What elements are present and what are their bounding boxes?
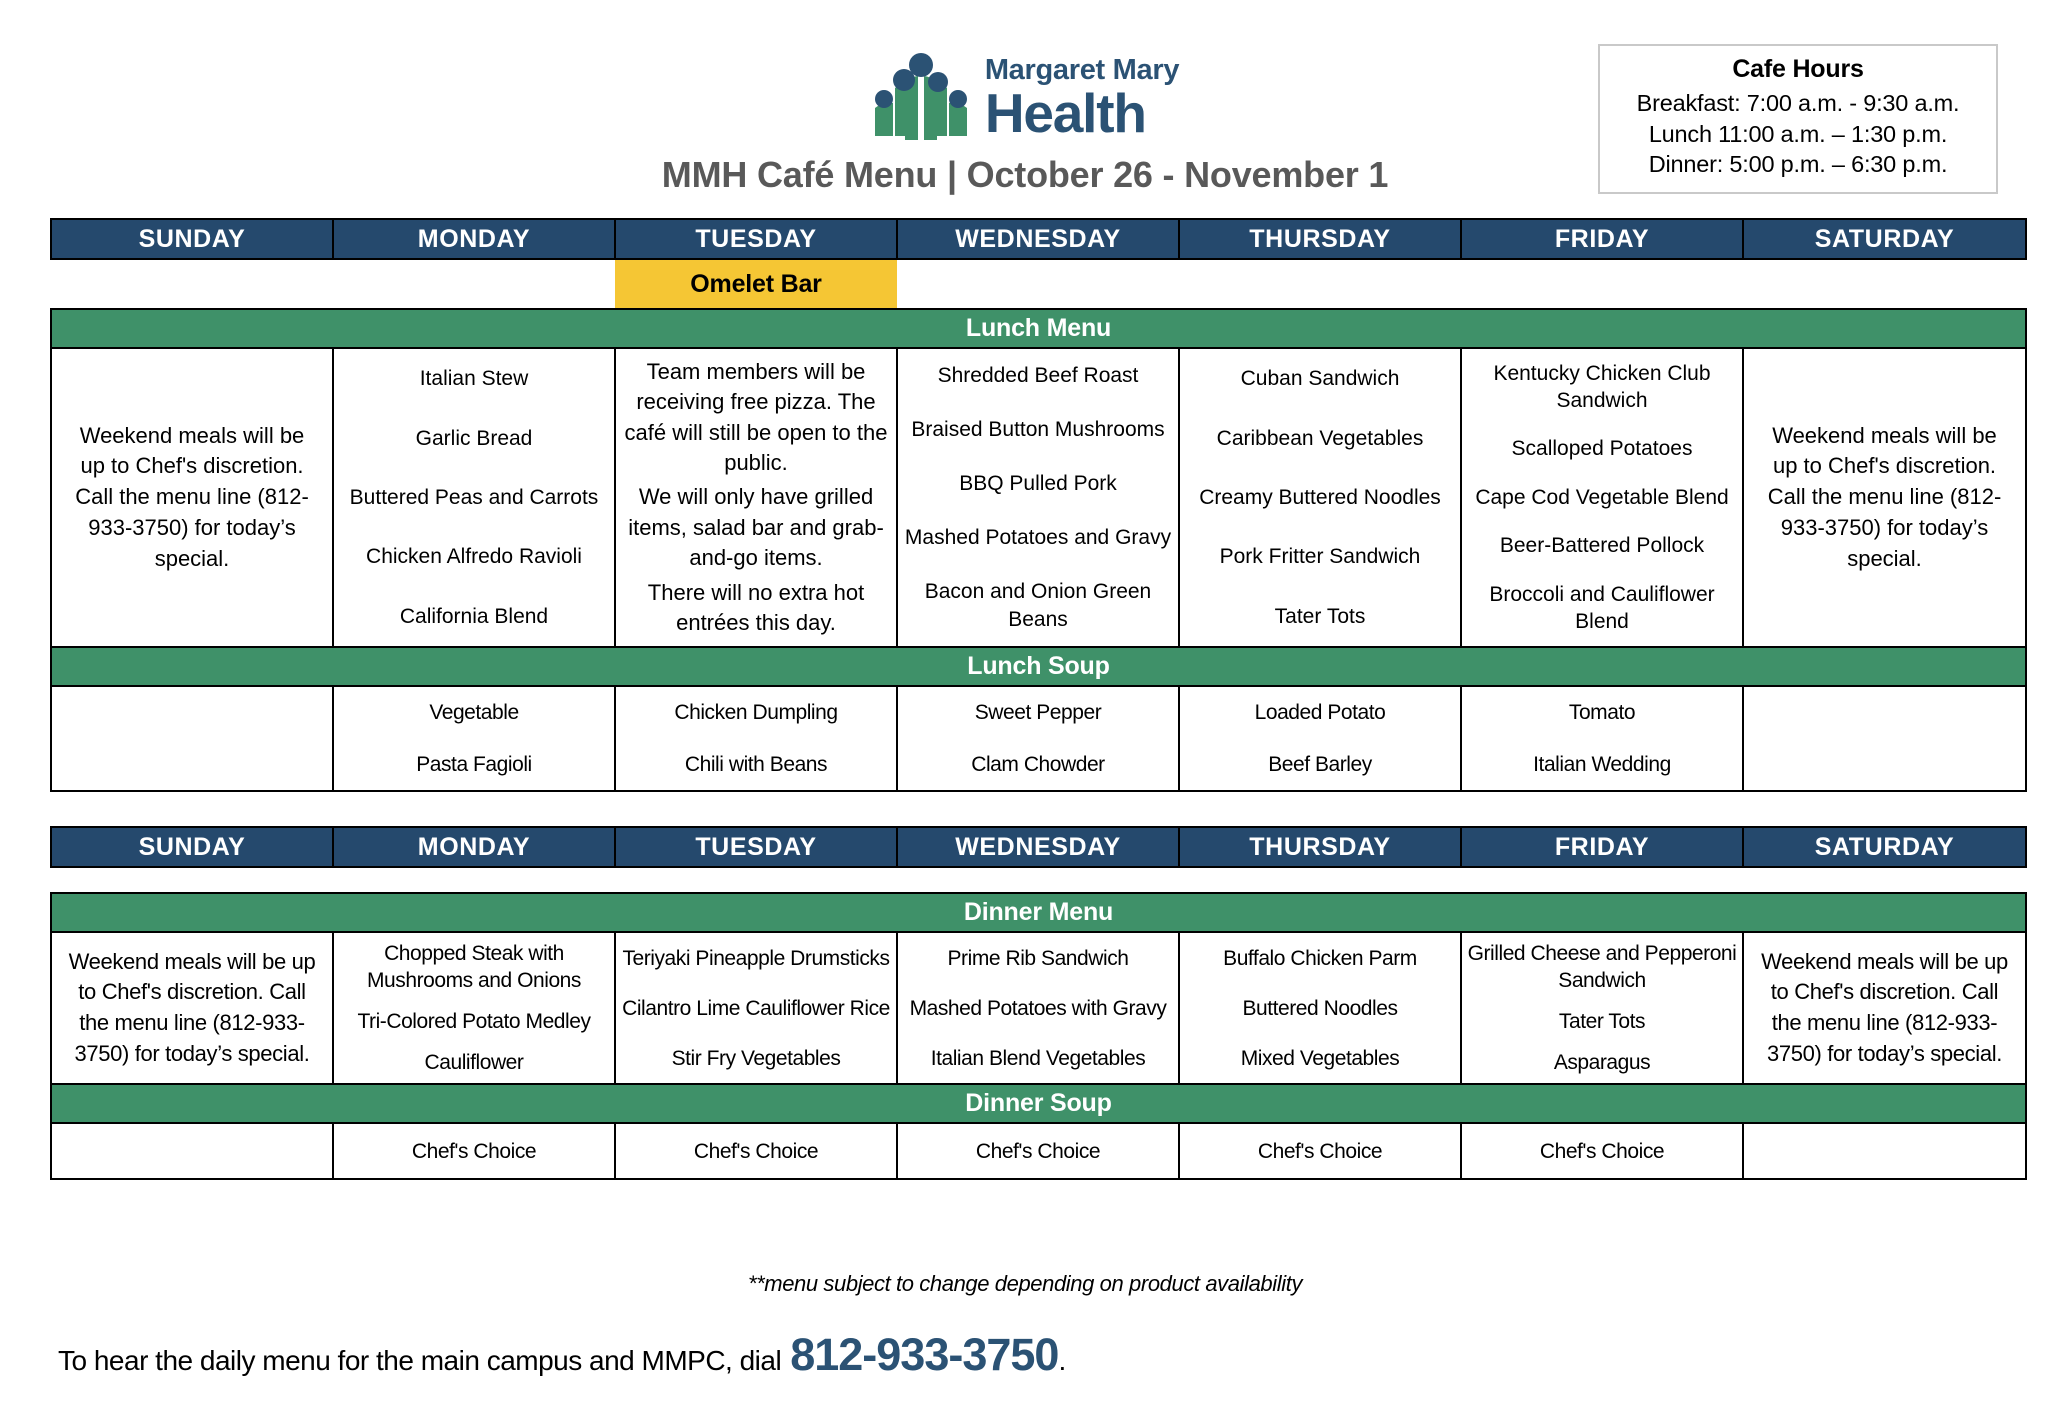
menu-item: Cauliflower xyxy=(334,1047,614,1078)
menu-item: Teriyaki Pineapple Drumsticks xyxy=(616,943,896,974)
menu-item: California Blend xyxy=(334,601,614,632)
menu-item: Creamy Buttered Noodles xyxy=(1180,482,1460,513)
soup-item: Loaded Potato xyxy=(1180,697,1460,728)
menu-item: Beer-Battered Pollock xyxy=(1462,530,1742,561)
cell-dinner-saturday: Weekend meals will be up to Chef's discr… xyxy=(1743,932,2026,1084)
menu-item: Grilled Cheese and Pepperoni Sandwich xyxy=(1462,938,1742,997)
menu-item: Cilantro Lime Cauliflower Rice xyxy=(616,993,896,1024)
menu-item: Buffalo Chicken Parm xyxy=(1180,943,1460,974)
day-header-row-top: SUNDAY MONDAY TUESDAY WEDNESDAY THURSDAY… xyxy=(51,219,2026,259)
cafe-hours-breakfast: Breakfast: 7:00 a.m. - 9:30 a.m. xyxy=(1608,88,1988,119)
day-header-row-bottom: SUNDAY MONDAY TUESDAY WEDNESDAY THURSDAY… xyxy=(51,827,2026,867)
menu-item: Kentucky Chicken Club Sandwich xyxy=(1462,358,1742,417)
menu-item: Pork Fritter Sandwich xyxy=(1180,541,1460,572)
menu-item: Shredded Beef Roast xyxy=(898,360,1178,391)
omelet-spacer-friday xyxy=(1461,259,1743,309)
cell-lunch-soup-friday: Tomato Italian Wedding xyxy=(1461,686,1743,791)
dinner-soup-band-row: Dinner Soup xyxy=(51,1084,2026,1123)
cell-dinner-monday: Chopped Steak with Mushrooms and Onions … xyxy=(333,932,615,1084)
dinner-soup-row: Chef's Choice Chef's Choice Chef's Choic… xyxy=(51,1123,2026,1179)
soup-item: Chili with Beans xyxy=(616,749,896,780)
menu-item: Broccoli and Cauliflower Blend xyxy=(1462,579,1742,638)
menu-item: Braised Button Mushrooms xyxy=(898,414,1178,445)
cell-dinner-tuesday: Teriyaki Pineapple Drumsticks Cilantro L… xyxy=(615,932,897,1084)
menu-item: Garlic Bread xyxy=(334,423,614,454)
menu-item: Cuban Sandwich xyxy=(1180,363,1460,394)
menu-table-body: SUNDAY MONDAY TUESDAY WEDNESDAY THURSDAY… xyxy=(51,219,2026,1179)
page-header: Margaret Mary Health MMH Café Menu | Oct… xyxy=(0,0,2050,218)
day-header-friday-2: FRIDAY xyxy=(1461,827,1743,867)
cafe-hours-dinner: Dinner: 5:00 p.m. – 6:30 p.m. xyxy=(1608,149,1988,180)
menu-item: Scalloped Potatoes xyxy=(1462,433,1742,464)
logo-line-2: Health xyxy=(985,87,1179,139)
cell-dinner-wednesday: Prime Rib Sandwich Mashed Potatoes with … xyxy=(897,932,1179,1084)
day-header-sunday-2: SUNDAY xyxy=(51,827,333,867)
soup-item: Vegetable xyxy=(334,697,614,728)
menu-note-paragraph: There will no extra hot entrées this day… xyxy=(624,576,888,641)
menu-item: Buttered Noodles xyxy=(1180,993,1460,1024)
day-header-tuesday-2: TUESDAY xyxy=(615,827,897,867)
dinner-soup-band: Dinner Soup xyxy=(51,1084,2026,1123)
cell-lunch-wednesday: Shredded Beef Roast Braised Button Mushr… xyxy=(897,348,1179,647)
soup-item: Tomato xyxy=(1462,697,1742,728)
logo: Margaret Mary Health xyxy=(871,48,1179,148)
menu-sheet: SUNDAY MONDAY TUESDAY WEDNESDAY THURSDAY… xyxy=(50,218,2025,1180)
menu-item: Mashed Potatoes with Gravy xyxy=(898,993,1178,1024)
day-header-monday: MONDAY xyxy=(333,219,615,259)
dial-lead-text: To hear the daily menu for the main camp… xyxy=(58,1345,781,1377)
day-header-saturday: SATURDAY xyxy=(1743,219,2026,259)
dinner-menu-row: Weekend meals will be up to Chef's discr… xyxy=(51,932,2026,1084)
day-header-thursday-2: THURSDAY xyxy=(1179,827,1461,867)
cell-lunch-monday: Italian Stew Garlic Bread Buttered Peas … xyxy=(333,348,615,647)
margaret-mary-health-people-logo-icon xyxy=(871,52,971,144)
day-header-wednesday: WEDNESDAY xyxy=(897,219,1179,259)
menu-table: SUNDAY MONDAY TUESDAY WEDNESDAY THURSDAY… xyxy=(50,218,2027,1180)
menu-item: Buttered Peas and Carrots xyxy=(334,482,614,513)
day-header-wednesday-2: WEDNESDAY xyxy=(897,827,1179,867)
lunch-menu-band: Lunch Menu xyxy=(51,309,2026,348)
menu-subject-to-change-note: **menu subject to change depending on pr… xyxy=(0,1271,2050,1297)
dial-trailing-period: . xyxy=(1058,1345,1066,1377)
menu-item: Cape Cod Vegetable Blend xyxy=(1462,482,1742,513)
day-header-saturday-2: SATURDAY xyxy=(1743,827,2026,867)
cell-dinner-friday: Grilled Cheese and Pepperoni Sandwich Ta… xyxy=(1461,932,1743,1084)
cell-lunch-soup-tuesday: Chicken Dumpling Chili with Beans xyxy=(615,686,897,791)
soup-item: Pasta Fagioli xyxy=(334,749,614,780)
omelet-spacer-wednesday xyxy=(897,259,1179,309)
menu-note-paragraph: We will only have grilled items, salad b… xyxy=(624,480,888,575)
cell-lunch-soup-sunday xyxy=(51,686,333,791)
cell-lunch-thursday: Cuban Sandwich Caribbean Vegetables Crea… xyxy=(1179,348,1461,647)
section-gap-1 xyxy=(51,791,2026,827)
omelet-bar-row: Omelet Bar xyxy=(51,259,2026,309)
menu-item: Tater Tots xyxy=(1462,1006,1742,1037)
omelet-spacer-sunday xyxy=(51,259,333,309)
day-header-thursday: THURSDAY xyxy=(1179,219,1461,259)
cell-dinner-sunday: Weekend meals will be up to Chef's discr… xyxy=(51,932,333,1084)
omelet-spacer-saturday xyxy=(1743,259,2026,309)
soup-item: Chicken Dumpling xyxy=(616,697,896,728)
cell-dinner-soup-sunday xyxy=(51,1123,333,1179)
omelet-bar-badge: Omelet Bar xyxy=(615,259,897,309)
lunch-menu-band-row: Lunch Menu xyxy=(51,309,2026,348)
menu-item: Tri-Colored Potato Medley xyxy=(334,1006,614,1037)
cell-dinner-soup-tuesday: Chef's Choice xyxy=(615,1123,897,1179)
logo-wordmark: Margaret Mary Health xyxy=(985,56,1179,139)
section-gap-2 xyxy=(51,867,2026,893)
cell-lunch-tuesday: Team members will be receiving free pizz… xyxy=(615,348,897,647)
cell-lunch-soup-saturday xyxy=(1743,686,2026,791)
lunch-menu-row: Weekend meals will be up to Chef's discr… xyxy=(51,348,2026,647)
cell-lunch-sunday: Weekend meals will be up to Chef's discr… xyxy=(51,348,333,647)
menu-item: Mashed Potatoes and Gravy xyxy=(898,522,1178,553)
cell-lunch-saturday: Weekend meals will be up to Chef's discr… xyxy=(1743,348,2026,647)
soup-item: Italian Wedding xyxy=(1462,749,1742,780)
menu-item: Caribbean Vegetables xyxy=(1180,423,1460,454)
lunch-soup-band: Lunch Soup xyxy=(51,647,2026,686)
cell-lunch-soup-monday: Vegetable Pasta Fagioli xyxy=(333,686,615,791)
menu-item: Italian Blend Vegetables xyxy=(898,1043,1178,1074)
lunch-soup-band-row: Lunch Soup xyxy=(51,647,2026,686)
logo-line-1: Margaret Mary xyxy=(985,56,1179,85)
soup-item: Sweet Pepper xyxy=(898,697,1178,728)
menu-item: Chicken Alfredo Ravioli xyxy=(334,541,614,572)
menu-item: BBQ Pulled Pork xyxy=(898,468,1178,499)
dinner-menu-band-row: Dinner Menu xyxy=(51,893,2026,932)
cell-dinner-thursday: Buffalo Chicken Parm Buttered Noodles Mi… xyxy=(1179,932,1461,1084)
menu-item: Chopped Steak with Mushrooms and Onions xyxy=(334,938,614,997)
cafe-hours-title: Cafe Hours xyxy=(1608,55,1988,84)
cafe-hours-box: Cafe Hours Breakfast: 7:00 a.m. - 9:30 a… xyxy=(1598,44,1998,194)
cell-dinner-soup-monday: Chef's Choice xyxy=(333,1123,615,1179)
cell-dinner-soup-thursday: Chef's Choice xyxy=(1179,1123,1461,1179)
cell-lunch-friday: Kentucky Chicken Club Sandwich Scalloped… xyxy=(1461,348,1743,647)
menu-item: Italian Stew xyxy=(334,363,614,394)
menu-phone-number[interactable]: 812-933-3750 xyxy=(790,1329,1058,1381)
menu-item: Asparagus xyxy=(1462,1047,1742,1078)
omelet-spacer-monday xyxy=(333,259,615,309)
day-header-sunday: SUNDAY xyxy=(51,219,333,259)
page-title: MMH Café Menu | October 26 - November 1 xyxy=(662,154,1388,196)
cell-dinner-soup-saturday xyxy=(1743,1123,2026,1179)
dial-menu-line: To hear the daily menu for the main camp… xyxy=(58,1329,1066,1381)
cell-lunch-soup-wednesday: Sweet Pepper Clam Chowder xyxy=(897,686,1179,791)
lunch-soup-row: Vegetable Pasta Fagioli Chicken Dumpling… xyxy=(51,686,2026,791)
omelet-spacer-thursday xyxy=(1179,259,1461,309)
day-header-monday-2: MONDAY xyxy=(333,827,615,867)
menu-note-paragraph: Team members will be receiving free pizz… xyxy=(624,355,888,480)
soup-item: Beef Barley xyxy=(1180,749,1460,780)
soup-item: Clam Chowder xyxy=(898,749,1178,780)
day-header-friday: FRIDAY xyxy=(1461,219,1743,259)
dinner-menu-band: Dinner Menu xyxy=(51,893,2026,932)
cafe-hours-lunch: Lunch 11:00 a.m. – 1:30 p.m. xyxy=(1608,119,1988,150)
day-header-tuesday: TUESDAY xyxy=(615,219,897,259)
cell-dinner-soup-friday: Chef's Choice xyxy=(1461,1123,1743,1179)
menu-item: Mixed Vegetables xyxy=(1180,1043,1460,1074)
menu-item: Stir Fry Vegetables xyxy=(616,1043,896,1074)
menu-item: Prime Rib Sandwich xyxy=(898,943,1178,974)
menu-item: Tater Tots xyxy=(1180,601,1460,632)
menu-item: Bacon and Onion Green Beans xyxy=(898,576,1178,635)
cell-lunch-soup-thursday: Loaded Potato Beef Barley xyxy=(1179,686,1461,791)
cell-dinner-soup-wednesday: Chef's Choice xyxy=(897,1123,1179,1179)
